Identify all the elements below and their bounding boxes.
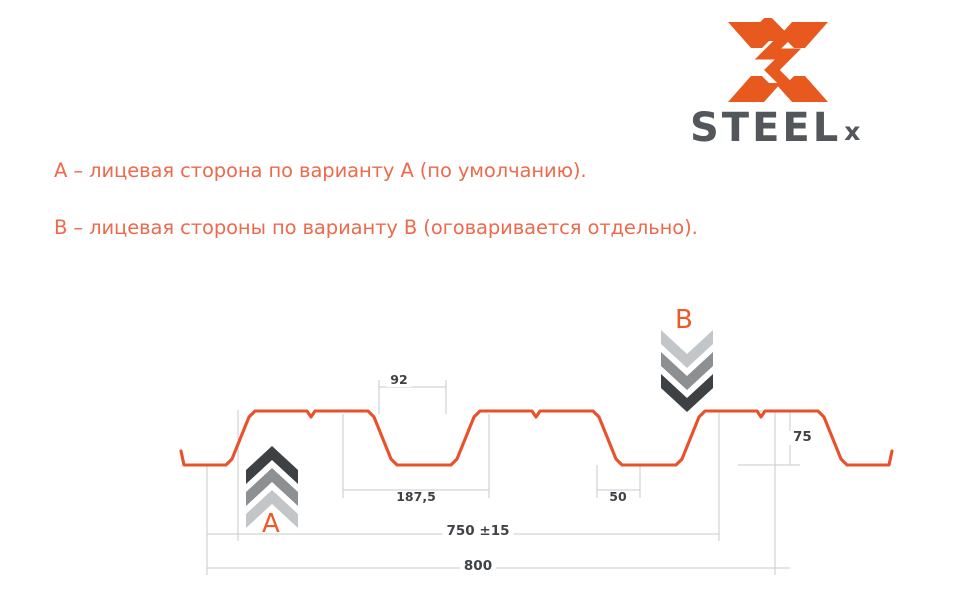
dimension-label-overall-width: 800 bbox=[460, 560, 496, 574]
profile-technical-drawing bbox=[0, 0, 970, 597]
sheet-profile-outline bbox=[181, 411, 892, 465]
marker-b-chevrons bbox=[661, 330, 713, 412]
dimension-label-bottom-flange-width: 50 bbox=[605, 491, 630, 504]
dimension-label-top-flange-width: 92 bbox=[386, 374, 411, 387]
marker-label-b: B bbox=[675, 307, 693, 333]
dimension-label-effective-width: 750 ±15 bbox=[443, 525, 514, 539]
dimension-label-rib-pitch: 187,5 bbox=[392, 491, 440, 504]
marker-label-a: A bbox=[262, 511, 280, 537]
dimension-label-profile-height: 75 bbox=[789, 431, 816, 445]
